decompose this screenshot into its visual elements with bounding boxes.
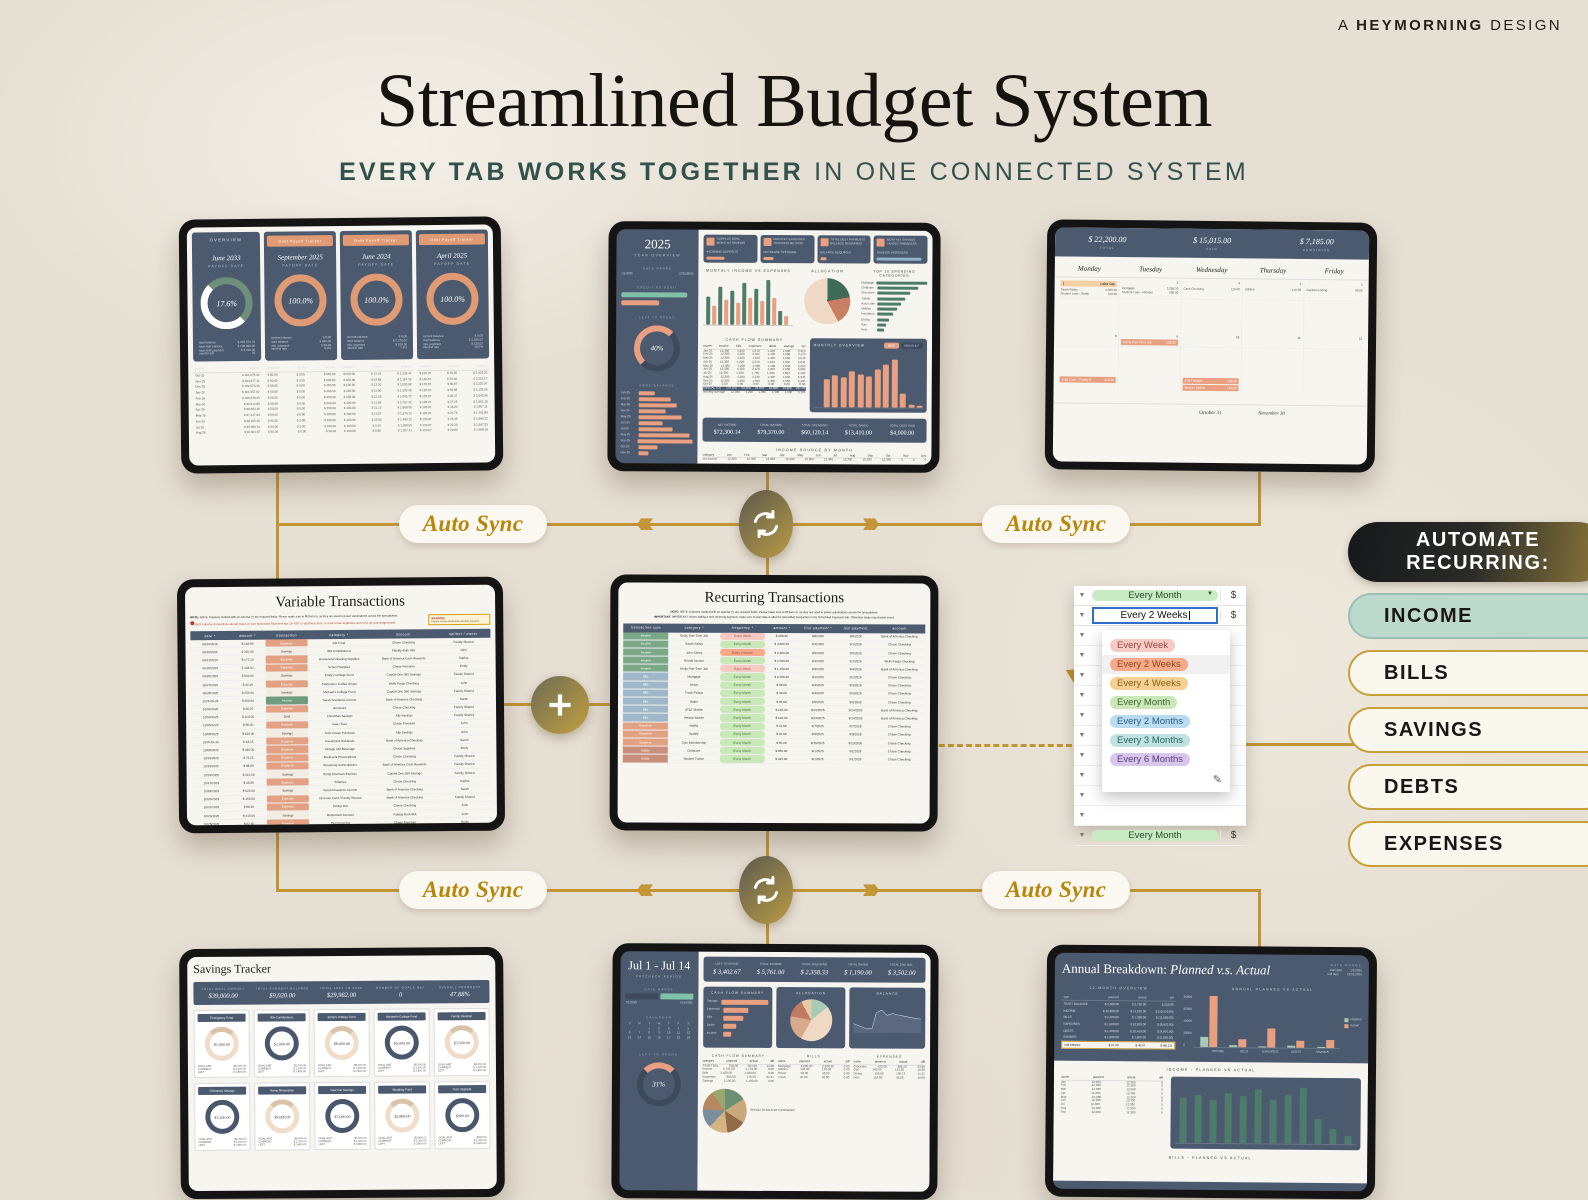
chevron-down-icon[interactable]: ▼	[1074, 832, 1090, 839]
chart-legend: Planned Actual	[1340, 997, 1361, 1049]
legend-swatch-actual	[1344, 1024, 1348, 1028]
breakdown-chart: ANNUAL PLANNED VS ACTUAL 800006000040000…	[1183, 987, 1362, 1055]
auto-sync-label-bottom-left: Auto Sync	[399, 871, 547, 909]
table-cell: $ 22.99	[765, 723, 798, 730]
savings-goal-donut: $9,000.00	[265, 1099, 299, 1133]
col-header: last payment	[838, 624, 874, 633]
bar-actual	[1297, 1041, 1305, 1048]
kpi-card: MONTHLY EXPENSESTRACKING METHOD DECREASE…	[760, 235, 814, 263]
table-cell: 10/13/2025	[192, 763, 231, 771]
kpi-icon	[763, 238, 771, 246]
table-cell: Every 2 Weeks	[720, 649, 765, 656]
table-cell: 2025-09-28	[191, 697, 230, 705]
toggle-button-b[interactable]: MONTHLY	[901, 342, 923, 348]
table-cell: 9/5/2026	[838, 649, 874, 656]
legend-label: Planned	[1350, 1018, 1361, 1022]
table-cell: Emily	[437, 744, 491, 752]
rail-item-bills[interactable]: BILLS	[1348, 650, 1588, 696]
table-row[interactable]: DebtsStudent TuitionEvery Month$ 425.009…	[623, 755, 925, 764]
table-cell: Bills	[623, 714, 668, 721]
overview-pct: 100.0%	[288, 296, 313, 305]
screen-bill-calendar: $ 22,200.00TOTAL $ 15,015.00PAID $ 7,185…	[1053, 227, 1369, 464]
overview-badge[interactable]: Debt Payoff Tracker	[419, 233, 485, 245]
dashboard-kpi-strip: NET INCOME$72,300.14 TOTAL INCOME$79,370…	[703, 417, 927, 442]
sync-icon-top[interactable]	[739, 490, 793, 558]
page-title: Streamlined Budget System	[0, 58, 1588, 145]
refresh-cycle-icon	[751, 509, 781, 539]
table-cell: John	[438, 810, 492, 818]
dashboard-main: SURPLUS GOALMONTHLY SAVINGS INCOMING DEP…	[698, 230, 933, 465]
overview-donut: 100.0%	[426, 273, 479, 326]
bar-planned	[1317, 1047, 1325, 1048]
area-chart	[854, 999, 922, 1039]
savings-goal-amount: $3,500.00	[454, 1040, 470, 1045]
table-cell: Income	[623, 648, 668, 655]
calendar-day-header: Monday	[1059, 264, 1120, 273]
table-cell: $ 35.99	[231, 779, 267, 787]
auto-sync-label-top-right: Auto Sync	[982, 505, 1130, 543]
selected-frequency-chip[interactable]: Every Month ▼	[1092, 590, 1218, 601]
legend-label: Actual	[1350, 1024, 1358, 1028]
table-cell: Chase Freedom	[371, 663, 437, 671]
table-cell: Emily	[438, 818, 492, 826]
table-cell: $ 500.00	[230, 672, 266, 680]
chart-allocation-pie: ALLOCATION	[797, 269, 857, 332]
savings-goal-meta: GOAL AMT$3,500.00CURRENT$ 1,200.00LEFT$ …	[438, 1063, 486, 1072]
table-cell: Family Shared	[438, 769, 492, 777]
table-cell: Family Shared	[437, 752, 491, 760]
table-cell: Emily Part-Time Job	[669, 632, 720, 639]
sheet-title-recurring: Recurring Transactions	[623, 589, 925, 607]
savings-goal-card[interactable]: Family Vacation$3,500.00GOAL AMT$3,500.0…	[434, 1008, 490, 1076]
savings-kpi-value: $39,000.00	[193, 993, 252, 1000]
screen-paycheck-period: Jul 1 - Jul 14 PAYCHECK PERIOD DATE RANG…	[619, 951, 930, 1192]
chevron-down-icon[interactable]: ▼	[1074, 712, 1090, 719]
table-cell: Gas / Fuel	[308, 721, 371, 729]
table-cell: Sarah Freelance Income	[309, 786, 372, 794]
table-cell: Sarah	[438, 785, 492, 793]
income-source-title: INCOME SOURCE BY MONTH	[703, 447, 927, 452]
savings-goal-card[interactable]: Tech Upgrade$900.00GOAL AMT$900.00CURREN…	[434, 1081, 490, 1149]
sidebar-bar-chart: Jan-25 Feb-25 Mar-25 Apr-25 May-25 Jun-2…	[620, 391, 692, 455]
frequency-dropdown-overlay[interactable]: ▼ Every Month ▼ $ ▼ Every 2 Weeks $ ▼▼▼▼…	[1074, 586, 1246, 826]
table-cell: 2025-10-10	[191, 738, 230, 746]
table-cell: Chase Checking	[874, 641, 925, 648]
savings-goal-amount: $5,000.00	[214, 1041, 230, 1046]
savings-goal-card[interactable]: Christmas Savings$1,200.00GOAL AMT$1,200…	[194, 1083, 250, 1151]
table-cell: $ 950.00	[230, 697, 266, 705]
table-cell: Emily	[437, 662, 491, 670]
table-cell: 09/21/2025	[191, 656, 230, 664]
savings-kpi-bar: TOTAL GOAL AMOUNT$39,000.00 TOTAL CURREN…	[193, 980, 489, 1005]
kpi-icon	[877, 239, 885, 247]
table-cell: Every Month	[719, 755, 764, 762]
table-cell: 10/21/2025	[192, 804, 231, 812]
calendar-day-header: Tuesday	[1120, 265, 1181, 274]
table-cell: Discover Card / Family Shared	[309, 794, 372, 802]
rail-heading-line2: RECURRING:	[1406, 552, 1550, 575]
overview-section-label: OVERVIEW	[195, 237, 257, 243]
table-expenses: EXPENSES nameplannedactualdiff Groceries…	[853, 1054, 925, 1084]
savings-goal-meta: GOAL AMT$900.00CURRENT$ 1,200.00LEFT$ 3,…	[438, 1136, 486, 1145]
paycheck-kpi-label: LEFT TO SPEND	[705, 963, 749, 967]
chevron-down-icon[interactable]: ▼	[1074, 692, 1090, 699]
kpi-icon	[707, 238, 715, 246]
tablet-variable-transactions[interactable]: Variable Transactions NOTE: NOTE: Column…	[177, 577, 505, 834]
table-cell: 9/14/2025	[798, 706, 837, 713]
table-cell: Chase Checking	[874, 690, 925, 697]
col-header: account	[874, 624, 925, 633]
table-cell: Income	[623, 657, 668, 664]
dropdown-option[interactable]: Every 4 Weeks	[1102, 674, 1230, 693]
table-cell: 9/4/2026	[837, 666, 873, 673]
rail-item-label: SAVINGS	[1384, 719, 1483, 742]
chevron-down-icon[interactable]: ▼	[1074, 592, 1090, 599]
table-cell: 09/19/2025	[190, 640, 229, 648]
connector-vertical-left-top	[276, 472, 279, 526]
screen-variable-transactions: Variable Transactions NOTE: NOTE: Column…	[185, 585, 497, 826]
table-cell: $ 2,208.30	[765, 673, 798, 680]
table-cell: John	[438, 801, 492, 809]
overview-badge[interactable]: Debt Payoff Tracker	[267, 235, 333, 247]
table-cell: 09/27/2025	[191, 681, 230, 689]
table-cell: 09/20/2025	[191, 665, 230, 673]
table-cell: $ 415.00	[231, 812, 267, 820]
table-cell: Christmas Savings	[308, 712, 371, 720]
table-cell: 9/10/2025	[798, 739, 837, 746]
frequency-input[interactable]: Every 2 Weeks	[1092, 607, 1218, 624]
tablet-debt-overview[interactable]: OVERVIEW June 2033 PAYOFF DATE 17.6% tot…	[179, 216, 504, 473]
progress-bar-credit	[621, 292, 687, 297]
tablet-bill-calendar[interactable]: $ 22,200.00TOTAL $ 15,015.00PAID $ 7,185…	[1045, 219, 1378, 472]
table-cell: $ 37.90	[1094, 1042, 1121, 1049]
table-cell: Expense	[623, 722, 668, 729]
calendar-day-header: Friday	[1304, 267, 1365, 276]
savings-goal-card[interactable]: New Car Savings$7,000.00GOAL AMT$7,000.0…	[314, 1082, 370, 1150]
table-cell: Expense	[267, 803, 309, 811]
savings-goal-card[interactable]: Michael's College Fund$6,000.00GOAL AMT$…	[374, 1008, 430, 1076]
table-cell: 9/8/2026	[838, 633, 874, 640]
table-cell: Expense	[266, 680, 308, 688]
savings-kpi-label: NUMBER OF GOALS MET	[371, 985, 430, 989]
connector-vertical-left-mid	[276, 523, 279, 583]
savings-goal-donut: $900.00	[445, 1098, 479, 1132]
table-cell: Debts	[623, 755, 668, 762]
savings-kpi-value: 0	[371, 991, 430, 998]
savings-goal-card[interactable]: Emergency Fund$5,000.00GOAL AMT$5,000.00…	[194, 1010, 250, 1078]
savings-goal-card[interactable]: Wedding Fund$2,800.00GOAL AMT$2,800.00CU…	[374, 1081, 430, 1149]
table-cell: 10/23/2025	[192, 812, 231, 820]
overview-sub: PAYOFF DATE	[267, 263, 333, 268]
table-cell: Bank of America Checking	[874, 707, 925, 714]
bills-chart-title: BILLS - PLANNED VS ACTUAL	[1060, 1154, 1360, 1161]
table-cell: Pet Food	[307, 639, 370, 647]
paycheck-kpi-value: $ 3,502.00	[880, 969, 924, 976]
table-cell: $ 48.37	[1120, 1042, 1147, 1049]
dropdown-option[interactable]: Every Month	[1102, 693, 1230, 712]
overview-pct: 17.6%	[216, 299, 237, 308]
table-cell: Every Month	[720, 681, 765, 688]
table-cell: $ 425.00	[765, 755, 798, 762]
table-cell: Chase Checking	[372, 777, 438, 785]
x-axis-label: SAVINGS	[1313, 1051, 1331, 1055]
table-cell: $ 208.30	[765, 633, 798, 640]
savings-goal-donut: $2,000.00	[265, 1026, 299, 1060]
dropdown-option-label: Every 6 Months	[1110, 753, 1190, 766]
tablet-savings-tracker[interactable]: Savings Tracker TOTAL GOAL AMOUNT$39,000…	[179, 947, 505, 1199]
paycheck-title: Jul 1 - Jul 14	[626, 958, 694, 973]
sheet-title-breakdown: Annual Breakdown: Planned v.s. Actual	[1062, 961, 1270, 979]
calendar-day-header: Wednesday	[1181, 266, 1242, 275]
bar-actual	[1209, 996, 1217, 1047]
breakdown-date-range: DATE RANGE start date1/1/2025 end date12…	[1327, 963, 1362, 977]
dropdown-option-label: Every 2 Weeks	[1110, 658, 1188, 671]
table-cell: Michael's College Fund	[308, 688, 371, 696]
col-header: type	[1062, 994, 1094, 1000]
dropdown-option-label: Every Month	[1110, 696, 1177, 709]
overview-month: June 2024	[343, 252, 409, 261]
table-cell: Chase Checking	[370, 638, 436, 646]
table-cell: Sophia	[437, 654, 491, 662]
overview-sub: PAYOFF DATE	[195, 264, 257, 269]
savings-goal-donut: $6,000.00	[385, 1025, 419, 1059]
table-cell: John	[436, 646, 490, 654]
tablet-annual-breakdown[interactable]: Annual Breakdown: Planned v.s. Actual DA…	[1045, 945, 1377, 1200]
table-cell: Retirement Account	[309, 811, 372, 819]
table-cell: 10/15/2025	[192, 771, 231, 779]
savings-goal-meta: GOAL AMT$6,000.00CURRENT$ 1,200.00LEFT$ …	[378, 1063, 426, 1072]
variable-red-note: RED indicates transactions already liste…	[195, 620, 396, 626]
chevron-down-icon[interactable]: ▼	[1074, 672, 1090, 679]
dropdown-option-label: Every Week	[1110, 639, 1175, 652]
table-cell: SAVINGS	[1061, 1034, 1093, 1041]
table-cell: Toiletries	[309, 778, 372, 786]
rail-item-expenses[interactable]: EXPENSES	[1348, 821, 1588, 867]
calendar-kpi-value: $ 15,015.00	[1160, 235, 1265, 245]
table-cell: Bank of America Checking	[372, 794, 438, 802]
tablet-annual-dashboard[interactable]: 2025 YEAR OVERVIEW DATE RANGE 1/1/202512…	[607, 221, 940, 473]
chevron-down-icon[interactable]: ▼	[1074, 632, 1090, 639]
selected-frequency-chip[interactable]: Every Month	[1092, 830, 1218, 841]
table-cell: 10/18/2025	[192, 787, 231, 795]
table-cell: Expense	[267, 778, 309, 786]
table-cell: Sarah Freelance Income	[308, 696, 371, 704]
table-cell: Family Shared	[437, 703, 491, 711]
table-cell: 9/7/2026	[837, 723, 873, 730]
paycheck-footer-charts: SPEND TOTALS BY CATEGORY	[702, 1089, 925, 1134]
table-cell: $ 1,500.00	[765, 657, 798, 664]
table-cell: Expense	[266, 746, 308, 754]
plus-icon	[545, 690, 575, 720]
table-cell: Capital One 360 Savings	[371, 671, 437, 679]
dashboard-gauge: 40%	[634, 325, 680, 371]
table-cell: 9/3/2025	[798, 690, 837, 697]
savings-goal-header: IRA Contributions	[258, 1013, 306, 1021]
left-to-spend-label: LEFT TO SPEND	[625, 1052, 693, 1056]
paycheck-kpi-value: $ 2,358.33	[792, 969, 836, 976]
bar-group	[1258, 996, 1275, 1047]
table-cell: Ally Savings	[371, 712, 437, 720]
paycheck-gauge: 31%	[637, 1062, 681, 1106]
paycheck-gauge-pct: 31%	[652, 1080, 665, 1088]
savings-goal-header: Michael's College Fund	[378, 1012, 426, 1020]
table-cell: IRA Contributions	[307, 647, 370, 655]
calendar-kpi-value: $ 22,200.00	[1055, 234, 1160, 244]
connector-vertical-right-top	[1258, 472, 1261, 526]
table-cell: Family Shared	[437, 670, 491, 678]
table-cell: Savings	[267, 787, 309, 795]
table-cell: Expense	[267, 819, 309, 825]
savings-kpi-value: $9,020.00	[253, 992, 312, 999]
savings-kpi-value: $29,982.00	[312, 992, 371, 999]
paycheck-kpi-value: $ 1,190.00	[836, 969, 880, 976]
spreadsheet-row: ▼Every Month$	[1074, 826, 1246, 846]
table-cell: Debt	[266, 713, 308, 721]
savings-goal-card[interactable]: Home Renovation$9,000.00GOAL AMT$9,000.0…	[254, 1082, 310, 1150]
rail-item-label: EXPENSES	[1384, 833, 1504, 856]
table-cell: Gym Membership	[668, 739, 719, 746]
chevron-down-icon[interactable]: ▼	[1074, 612, 1090, 619]
table-cell: $ 16.99	[765, 731, 798, 738]
table-cell: Trash Pickup	[668, 689, 719, 696]
table-cell: $ 120.00	[230, 713, 266, 721]
toggle-button-a[interactable]: 2025	[884, 342, 899, 348]
automate-recurring-rail: AUTOMATE RECURRING: INCOMEBILLSSAVINGSDE…	[1348, 522, 1588, 867]
table-cell: Every Month	[720, 698, 765, 705]
auto-sync-label-top-left: Auto Sync	[399, 505, 547, 543]
overview-badge[interactable]: Debt Payoff Tracker	[343, 234, 409, 246]
table-cell: Chase Checking	[873, 756, 924, 763]
table-cell: 9/3/2026	[837, 682, 873, 689]
col-header: planned	[1094, 994, 1121, 1000]
table-cell: 10/02/2025	[191, 705, 230, 713]
tablet-paycheck-period[interactable]: Jul 1 - Jul 14 PAYCHECK PERIOD DATE RANG…	[611, 943, 938, 1200]
table-cell: Expense	[623, 738, 668, 745]
chip-caret-icon[interactable]: ▼	[1207, 591, 1213, 597]
savings-goal-card[interactable]: IRA Contributions$2,000.00GOAL AMT$2,000…	[254, 1009, 310, 1077]
dropdown-option[interactable]: Every 2 Months	[1102, 712, 1230, 731]
table-cell: Sewer	[668, 681, 719, 688]
table-cell: John	[437, 728, 491, 736]
chevron-down-icon[interactable]: ▼	[1074, 752, 1090, 759]
col-header: splitter / owner	[436, 629, 490, 638]
table-cell: 9/1/2026	[837, 674, 873, 681]
recurring-notes: NOTE: NOTE: Columns marked with an aster…	[623, 610, 925, 620]
bar-group	[1200, 996, 1217, 1047]
table-cell: $ 88.30	[231, 803, 267, 811]
table-cell: Expense	[266, 664, 308, 672]
table-cell: Savings	[267, 811, 309, 819]
table-cell: 9/3/2025	[798, 682, 837, 689]
progress-bar-debit	[621, 300, 659, 305]
table-cell: Savings	[265, 647, 307, 655]
table-cell: 10/05/2025	[191, 722, 230, 730]
table-cell: Pet Grooming	[309, 819, 372, 825]
table-cell: 09/28/2025	[191, 689, 230, 697]
paycheck-kpi-value: $ 3,402.67	[705, 968, 749, 975]
overview-stats: total balance$ 105,574.70 total start ba…	[196, 341, 258, 357]
overview-pct: 100.0%	[440, 294, 465, 303]
brand-credit: A HEYMORNING DESIGN	[1338, 17, 1562, 34]
paycheck-kpi-label: TOTAL SPENDING	[792, 963, 836, 967]
dashboard-sidebar: 2025 YEAR OVERVIEW DATE RANGE 1/1/202512…	[615, 229, 698, 463]
table-row: end balance$ 37.90$ 48.37$ (66.27)	[1061, 1040, 1175, 1050]
screen-recurring-transactions: Recurring Transactions NOTE: NOTE: Colum…	[618, 582, 931, 823]
savings-goal-row-1: Emergency Fund$5,000.00GOAL AMT$5,000.00…	[194, 1008, 490, 1078]
table-cell: Income	[623, 640, 668, 647]
bar-planned	[1258, 1046, 1266, 1047]
frequency-options-panel[interactable]: Every WeekEvery 2 WeeksEvery 4 WeeksEver…	[1102, 630, 1230, 792]
chevron-down-icon[interactable]: ▼	[1074, 652, 1090, 659]
dropdown-option[interactable]: Every 3 Months	[1102, 731, 1230, 750]
page-subtitle: EVERY TAB WORKS TOGETHER IN ONE CONNECTE…	[0, 158, 1588, 187]
table-cell: Bank of America Checking	[371, 736, 437, 744]
table-cell: Rental Income	[668, 657, 719, 664]
col-header: transaction	[265, 630, 307, 639]
calendar-kpi-bar: $ 22,200.00TOTAL $ 15,015.00PAID $ 7,185…	[1055, 227, 1369, 259]
dropdown-option[interactable]: Every 2 Weeks	[1102, 655, 1230, 674]
bar-group	[1317, 997, 1334, 1048]
dropdown-option[interactable]: Every 6 Months	[1102, 750, 1230, 769]
savings-goal-amount: $2,000.00	[274, 1041, 290, 1046]
table-cell: 9/3/2026	[837, 690, 873, 697]
chevron-down-icon[interactable]: ▼	[1074, 812, 1090, 819]
table-cell: Bills	[623, 673, 668, 680]
savings-goal-donut: $5,000.00	[205, 1027, 239, 1061]
rail-item-income[interactable]: INCOME	[1348, 593, 1588, 639]
savings-goal-amount: $900.00	[456, 1113, 469, 1118]
dropdown-editing-row[interactable]: ▼ Every 2 Weeks $	[1074, 606, 1246, 626]
table-cell: $ 140.00	[765, 714, 798, 721]
table-cell: $ 310.00	[230, 730, 266, 738]
overview-sub: PAYOFF DATE	[419, 261, 485, 266]
rail-item-savings[interactable]: SAVINGS	[1348, 707, 1588, 753]
table-cell: $ 98.00	[231, 762, 267, 770]
pie-chart	[804, 278, 850, 324]
table-cell: $ 145.00	[765, 706, 798, 713]
col-header: date *	[190, 631, 229, 640]
dashboard-year: 2025	[621, 236, 693, 252]
pie-chart-footer	[702, 1089, 746, 1133]
table-cell: 9/1/2026	[838, 641, 874, 648]
dropdown-option[interactable]: Every Week	[1102, 636, 1230, 655]
table-cell: Every Month	[720, 731, 765, 738]
savings-kpi-label: TOTAL GOAL AMOUNT	[193, 987, 252, 991]
savings-goal-amount: $8,000.00	[334, 1040, 350, 1045]
table-cell: AT&T Mobile	[668, 706, 719, 713]
chevron-down-icon[interactable]: ▼	[1074, 732, 1090, 739]
table-cell: Wells Fargo Checking	[371, 679, 437, 687]
plus-connector-node[interactable]	[531, 676, 589, 734]
savings-goal-card[interactable]: Emily's College Fund$8,000.00GOAL AMT$8,…	[314, 1009, 370, 1077]
savings-goal-meta: GOAL AMT$8,000.00CURRENT$ 1,200.00LEFT$ …	[318, 1064, 366, 1073]
kpi-icon	[820, 238, 828, 246]
table-row: SAVINGS$ 1,600.00$ 1,600.00$ (1,640.00)	[1061, 1034, 1175, 1042]
chevron-down-icon[interactable]: ▼	[1074, 792, 1090, 799]
pencil-edit-icon[interactable]: ✎	[1102, 769, 1230, 788]
table-cell: Vintage Old Beverage	[308, 745, 371, 753]
tablet-recurring-transactions[interactable]: Recurring Transactions NOTE: NOTE: Colum…	[610, 574, 939, 831]
table-cell: Sarah Salary	[668, 640, 719, 647]
savings-goal-header: Tech Upgrade	[438, 1085, 486, 1093]
rail-item-debts[interactable]: DEBTS	[1348, 764, 1588, 810]
savings-goal-header: Christmas Savings	[198, 1087, 246, 1095]
chevron-down-icon[interactable]: ▼	[1074, 772, 1090, 779]
table-cell: Every Month	[719, 747, 764, 754]
sync-icon-bottom[interactable]	[739, 856, 793, 924]
dropdown-selected-row[interactable]: ▼ Every Month ▼ $	[1074, 586, 1246, 606]
table-cell: Expense	[265, 639, 307, 647]
